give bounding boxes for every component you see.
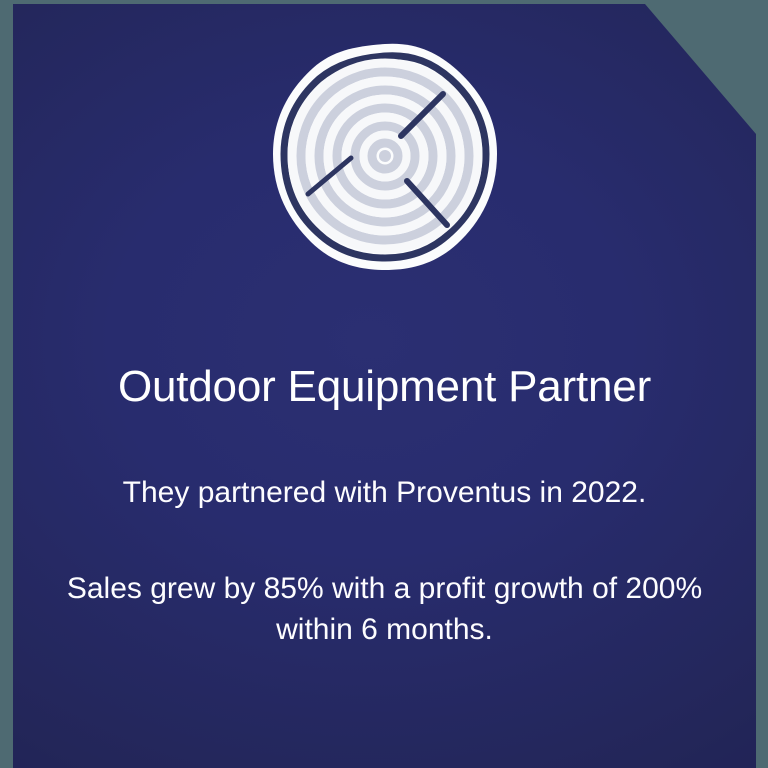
partner-year-text: They partnered with Proventus in 2022. — [13, 473, 756, 514]
partner-story-card: Outdoor Equipment Partner They partnered… — [13, 4, 756, 768]
growth-result-text: Sales grew by 85% with a profit growth o… — [13, 569, 756, 651]
page-title: Outdoor Equipment Partner — [13, 362, 756, 411]
card-content: Outdoor Equipment Partner They partnered… — [13, 4, 756, 768]
card-stage: Outdoor Equipment Partner They partnered… — [0, 0, 768, 768]
card-text: Outdoor Equipment Partner They partnered… — [13, 276, 756, 651]
tree-ring-log-slice-icon — [265, 36, 505, 276]
